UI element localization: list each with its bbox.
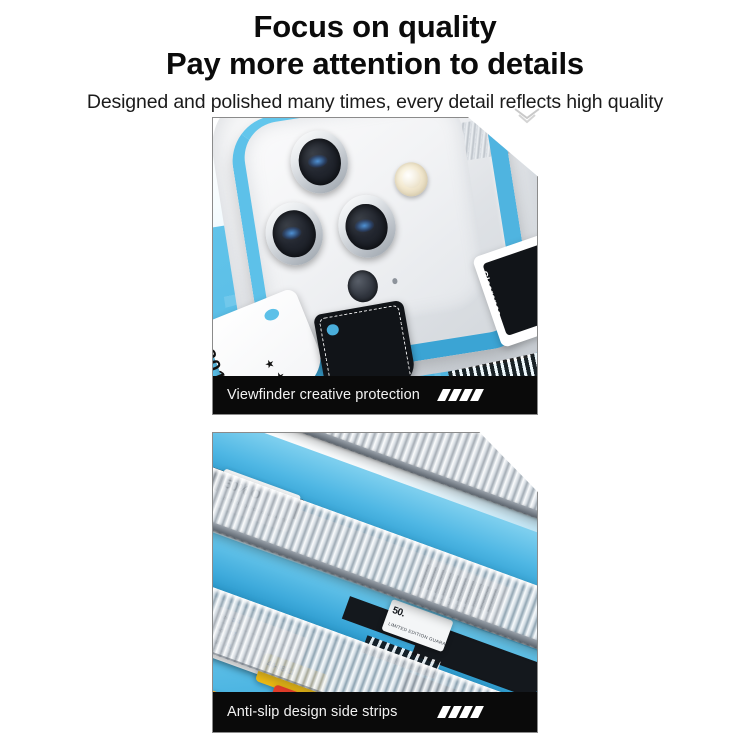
caption-text-anti-slip: Anti-slip design side strips — [227, 704, 397, 720]
slash-marks-icon-2 — [440, 706, 481, 718]
caption-bar-viewfinder: Viewfinder creative protection — [213, 376, 537, 414]
star-icon-1: ★ — [264, 358, 277, 372]
chevron-double-down-icon — [512, 106, 542, 128]
page-title-line1: Focus on quality — [0, 9, 750, 44]
black-tag-hole-icon — [326, 324, 339, 337]
microphone-dot-icon — [392, 278, 399, 285]
slash-marks-icon — [440, 389, 481, 401]
product-feature-image: Focus on quality Pay more attention to d… — [0, 0, 750, 750]
camera-flash-icon — [393, 160, 431, 199]
feature-panel-anti-slip: 50% O LIMITED EDITION GUARANTEE 50. LIMI… — [212, 432, 538, 733]
feature-panel-viewfinder: 2016 ★ ★ ★ Clearance Viewfinder creative… — [212, 117, 538, 415]
discount-text-small: 50. — [390, 606, 405, 621]
lidar-sensor-icon — [345, 268, 381, 305]
product-photo-anti-slip: 50% O LIMITED EDITION GUARANTEE 50. LIMI… — [213, 433, 537, 732]
page-subtitle: Designed and polished many times, every … — [0, 91, 750, 114]
page-title-line2: Pay more attention to details — [0, 46, 750, 81]
tag-hole-icon — [263, 306, 281, 322]
caption-text-viewfinder: Viewfinder creative protection — [227, 387, 420, 403]
caption-bar-anti-slip: Anti-slip design side strips — [213, 692, 537, 732]
product-photo-viewfinder: 2016 ★ ★ ★ Clearance — [213, 118, 537, 414]
header: Focus on quality Pay more attention to d… — [0, 0, 750, 114]
